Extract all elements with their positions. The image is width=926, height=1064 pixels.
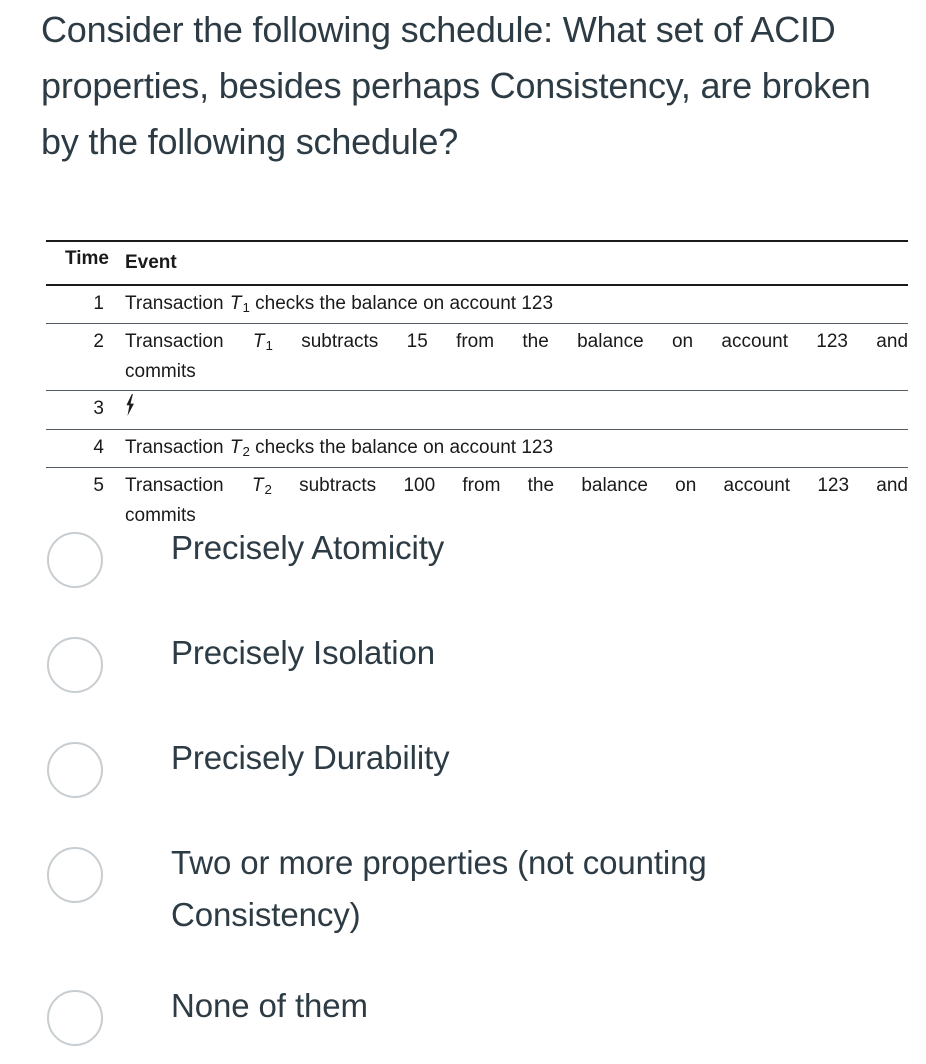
transaction-subscript: 1 — [266, 338, 273, 353]
cell-event: Transaction T2 checks the balance on acc… — [125, 433, 908, 463]
cell-event — [125, 394, 908, 425]
cell-time: 3 — [46, 394, 125, 423]
transaction-variable: T — [229, 293, 243, 314]
cell-event: Transaction T1 subtracts 15 from the bal… — [125, 327, 908, 386]
event-text-after: subtracts 100 from the balance on accoun… — [272, 475, 908, 496]
cell-time: 2 — [46, 327, 125, 356]
radio-button-icon[interactable] — [47, 742, 103, 798]
column-header-time: Time — [46, 248, 125, 270]
answer-option-two-or-more-properties[interactable]: Two or more properties (not counting Con… — [41, 837, 901, 941]
transaction-variable: T — [252, 331, 266, 352]
answer-option-precisely-durability[interactable]: Precisely Durability — [41, 732, 901, 798]
event-text-after: checks the balance on account 123 — [250, 293, 553, 314]
answer-option-label[interactable]: Two or more properties (not counting Con… — [171, 837, 871, 941]
radio-button-icon[interactable] — [47, 532, 103, 588]
answer-option-label[interactable]: None of them — [171, 980, 368, 1032]
transaction-variable: T — [229, 437, 243, 458]
transaction-variable: T — [251, 475, 265, 496]
lightning-bolt-crash-icon — [125, 394, 135, 420]
radio-button-icon[interactable] — [47, 847, 103, 903]
event-text-before: Transaction — [125, 331, 252, 352]
column-header-event: Event — [125, 248, 908, 277]
answer-options-list: Precisely Atomicity Precisely Isolation … — [41, 522, 901, 1046]
cell-event: Transaction T1 checks the balance on acc… — [125, 289, 908, 319]
cell-time: 5 — [46, 471, 125, 500]
cell-time: 1 — [46, 289, 125, 318]
event-text-after: checks the balance on account 123 — [250, 437, 553, 458]
schedule-table: Time Event 1 Transaction T1 checks the b… — [46, 240, 908, 534]
answer-option-precisely-atomicity[interactable]: Precisely Atomicity — [41, 522, 901, 588]
answer-option-precisely-isolation[interactable]: Precisely Isolation — [41, 627, 901, 693]
answer-option-label[interactable]: Precisely Isolation — [171, 627, 435, 679]
event-text-before: Transaction — [125, 293, 229, 314]
table-row: 1 Transaction T1 checks the balance on a… — [46, 286, 908, 323]
transaction-subscript: 2 — [242, 444, 249, 459]
event-text-after: subtracts 15 from the balance on account… — [273, 331, 908, 352]
radio-button-icon[interactable] — [47, 990, 103, 1046]
radio-button-icon[interactable] — [47, 637, 103, 693]
table-row: 3 — [46, 391, 908, 429]
event-text-before: Transaction — [125, 437, 229, 458]
answer-option-none-of-them[interactable]: None of them — [41, 980, 901, 1046]
event-text-before: Transaction — [125, 475, 251, 496]
answer-option-label[interactable]: Precisely Atomicity — [171, 522, 444, 574]
transaction-subscript: 2 — [264, 482, 271, 497]
cell-time: 4 — [46, 433, 125, 462]
table-row: 4 Transaction T2 checks the balance on a… — [46, 430, 908, 467]
answer-option-label[interactable]: Precisely Durability — [171, 732, 450, 784]
transaction-subscript: 1 — [242, 300, 249, 315]
table-header-row: Time Event — [46, 242, 908, 284]
event-text-continuation: commits — [125, 357, 908, 386]
quiz-question-page: { "question": { "prompt": "Consider the … — [0, 0, 926, 1064]
question-prompt: Consider the following schedule: What se… — [41, 2, 901, 170]
table-row: 2 Transaction T1 subtracts 15 from the b… — [46, 324, 908, 390]
